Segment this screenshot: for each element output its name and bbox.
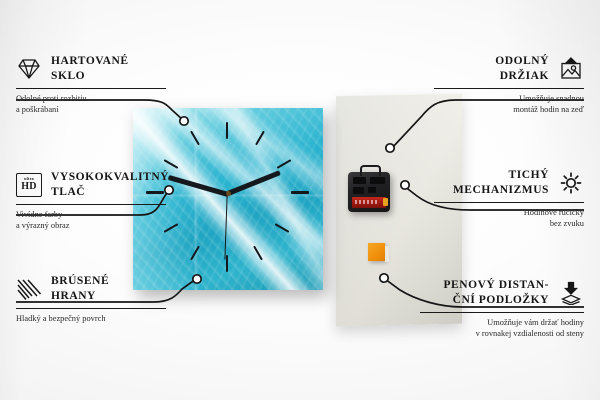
connector-dot-odolny-drziak xyxy=(386,144,394,152)
bevel-edge-icon xyxy=(16,277,42,301)
ultra-hd-icon: ultra HD xyxy=(16,173,42,197)
feature-title: PENOVÝ DISTAN- ČNÍ PODLOŽKY xyxy=(443,278,549,307)
feature-description: Hodinové ručičky bez zvuku xyxy=(434,207,584,229)
feature-header: HARTOVANÉ SKLO xyxy=(16,54,166,83)
feature-divider xyxy=(434,88,584,89)
feature-header: ODOLNÝ DRŽIAK xyxy=(434,54,584,83)
connector-dot-penove-podlozky xyxy=(380,274,388,282)
feature-brusene-hrany: BRÚSENÉ HRANY Hladký a bezpečný povrch xyxy=(16,274,166,324)
feature-description: Umožňuje snadnou montáž hodin na zeď xyxy=(434,93,584,115)
feature-divider xyxy=(420,312,584,313)
feature-odolny-drziak: ODOLNÝ DRŽIAK Umožňuje snadnou montáž ho… xyxy=(434,54,584,115)
feature-divider xyxy=(16,204,166,205)
feature-title: ODOLNÝ DRŽIAK xyxy=(495,54,549,83)
feature-title: TICHÝ MECHANIZMUS xyxy=(453,168,549,197)
feature-hartovane-sklo: HARTOVANÉ SKLO Odolné proti rozbitiu a p… xyxy=(16,54,166,115)
feature-header: TICHÝ MECHANIZMUS xyxy=(434,168,584,197)
feature-penove-distancne-podlozky: PENOVÝ DISTAN- ČNÍ PODLOŽKY Umožňuje vám… xyxy=(420,278,584,339)
feature-header: BRÚSENÉ HRANY xyxy=(16,274,166,303)
ultra-hd-hd-label: HD xyxy=(21,182,37,192)
feature-tichy-mechanizmus: TICHÝ MECHANIZMUS Hodinové ručičky bez z… xyxy=(434,168,584,229)
promo-graphic: HARTOVANÉ SKLO Odolné proti rozbitiu a p… xyxy=(0,0,600,400)
feature-description: Odolné proti rozbitiu a poškrábaní xyxy=(16,93,166,115)
feature-divider xyxy=(16,88,166,89)
feature-title: BRÚSENÉ HRANY xyxy=(51,274,109,303)
feature-description: Hladký a bezpečný povrch xyxy=(16,313,166,324)
gear-icon xyxy=(558,171,584,195)
feature-header: ultra HD VYSOKOKVALITNÝ TLAČ xyxy=(16,170,166,199)
picture-hanger-icon xyxy=(558,57,584,81)
feature-title: HARTOVANÉ SKLO xyxy=(51,54,129,83)
feature-description: Umožňuje vám držať hodiny v rovnakej vzd… xyxy=(420,317,584,339)
stack-arrow-icon xyxy=(558,281,584,305)
feature-vysokokvalitny-tlac: ultra HD VYSOKOKVALITNÝ TLAČ Vivídne far… xyxy=(16,170,166,231)
feature-divider xyxy=(434,202,584,203)
diamond-icon xyxy=(16,57,42,81)
feature-divider xyxy=(16,308,166,309)
connector-dot-tichy-mechanizmus xyxy=(401,181,409,189)
connector-dot-hartovane-sklo xyxy=(180,117,188,125)
feature-description: Vivídne farby a výrazný obraz xyxy=(16,209,166,231)
connector-dot-brusene-hrany xyxy=(193,275,201,283)
feature-header: PENOVÝ DISTAN- ČNÍ PODLOŽKY xyxy=(420,278,584,307)
feature-title: VYSOKOKVALITNÝ TLAČ xyxy=(51,170,169,199)
